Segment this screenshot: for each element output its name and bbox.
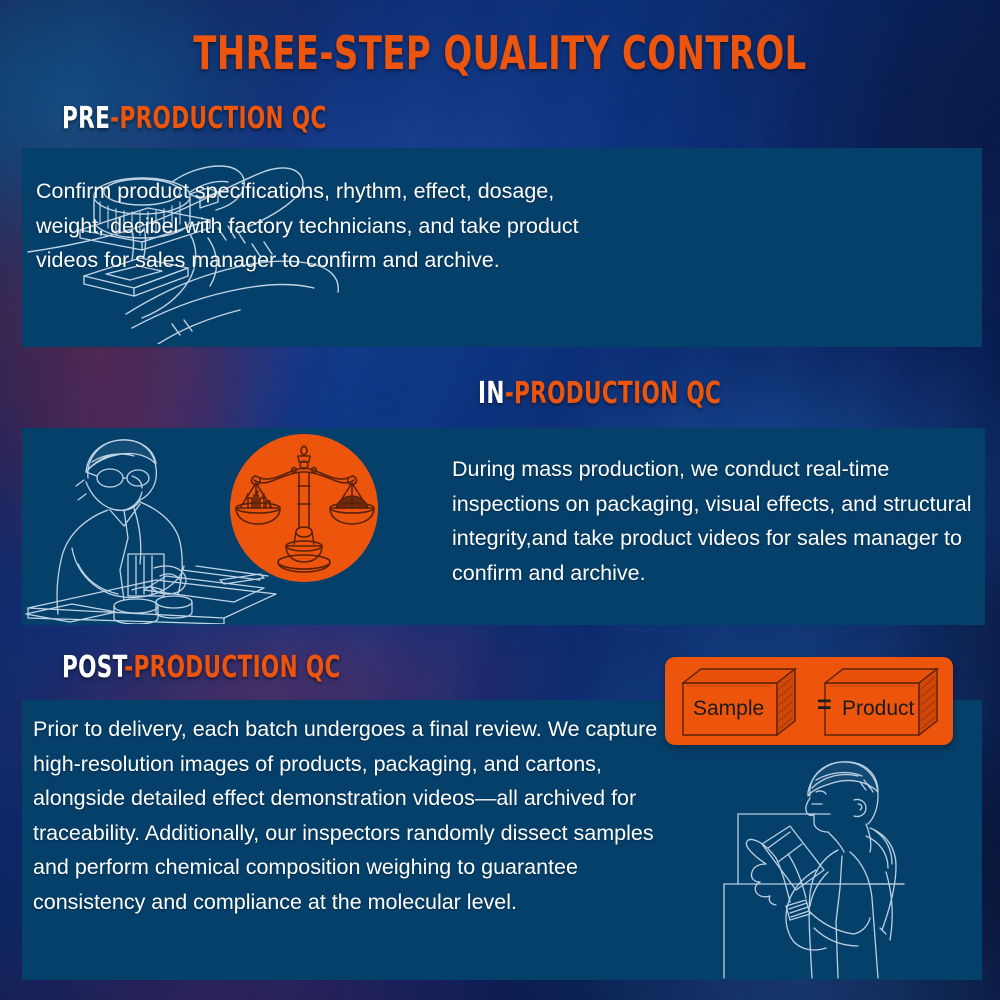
panel-pre-production-body: Confirm product specifications, rhythm, …: [36, 174, 596, 278]
infographic-root: THREE-STEP QUALITY CONTROL PRE-PRODUCTIO…: [0, 0, 1000, 1000]
badge-label-sample: Sample: [693, 698, 764, 719]
step-heading-post-production: POST-PRODUCTION QC: [62, 653, 341, 683]
badge-label-product: Product: [842, 698, 914, 719]
step-heading-pre-production: PRE-PRODUCTION QC: [62, 104, 327, 134]
step-heading-post-production-white: POST: [62, 650, 124, 685]
panel-post-production-body: Prior to delivery, each batch undergoes …: [33, 712, 658, 919]
badge-equals-sign: =: [817, 695, 832, 716]
panel-in-production: During mass production, we conduct real-…: [22, 428, 985, 625]
man-with-tablet-icon: [690, 752, 982, 980]
step-heading-in-production-white: IN: [478, 376, 505, 411]
panel-in-production-body: During mass production, we conduct real-…: [452, 452, 985, 590]
step-heading-in-production: IN-PRODUCTION QC: [478, 379, 721, 409]
step-heading-pre-production-white: PRE: [62, 101, 110, 136]
sample-equals-product-badge: Sample = Product: [665, 657, 953, 745]
step-heading-in-production-orange: -PRODUCTION QC: [505, 376, 721, 411]
step-heading-post-production-orange: -PRODUCTION QC: [124, 650, 340, 685]
page-title: THREE-STEP QUALITY CONTROL: [90, 30, 910, 76]
panel-pre-production: Confirm product specifications, rhythm, …: [22, 148, 982, 347]
balance-scale-badge: [228, 434, 380, 582]
step-heading-pre-production-orange: -PRODUCTION QC: [110, 101, 326, 136]
